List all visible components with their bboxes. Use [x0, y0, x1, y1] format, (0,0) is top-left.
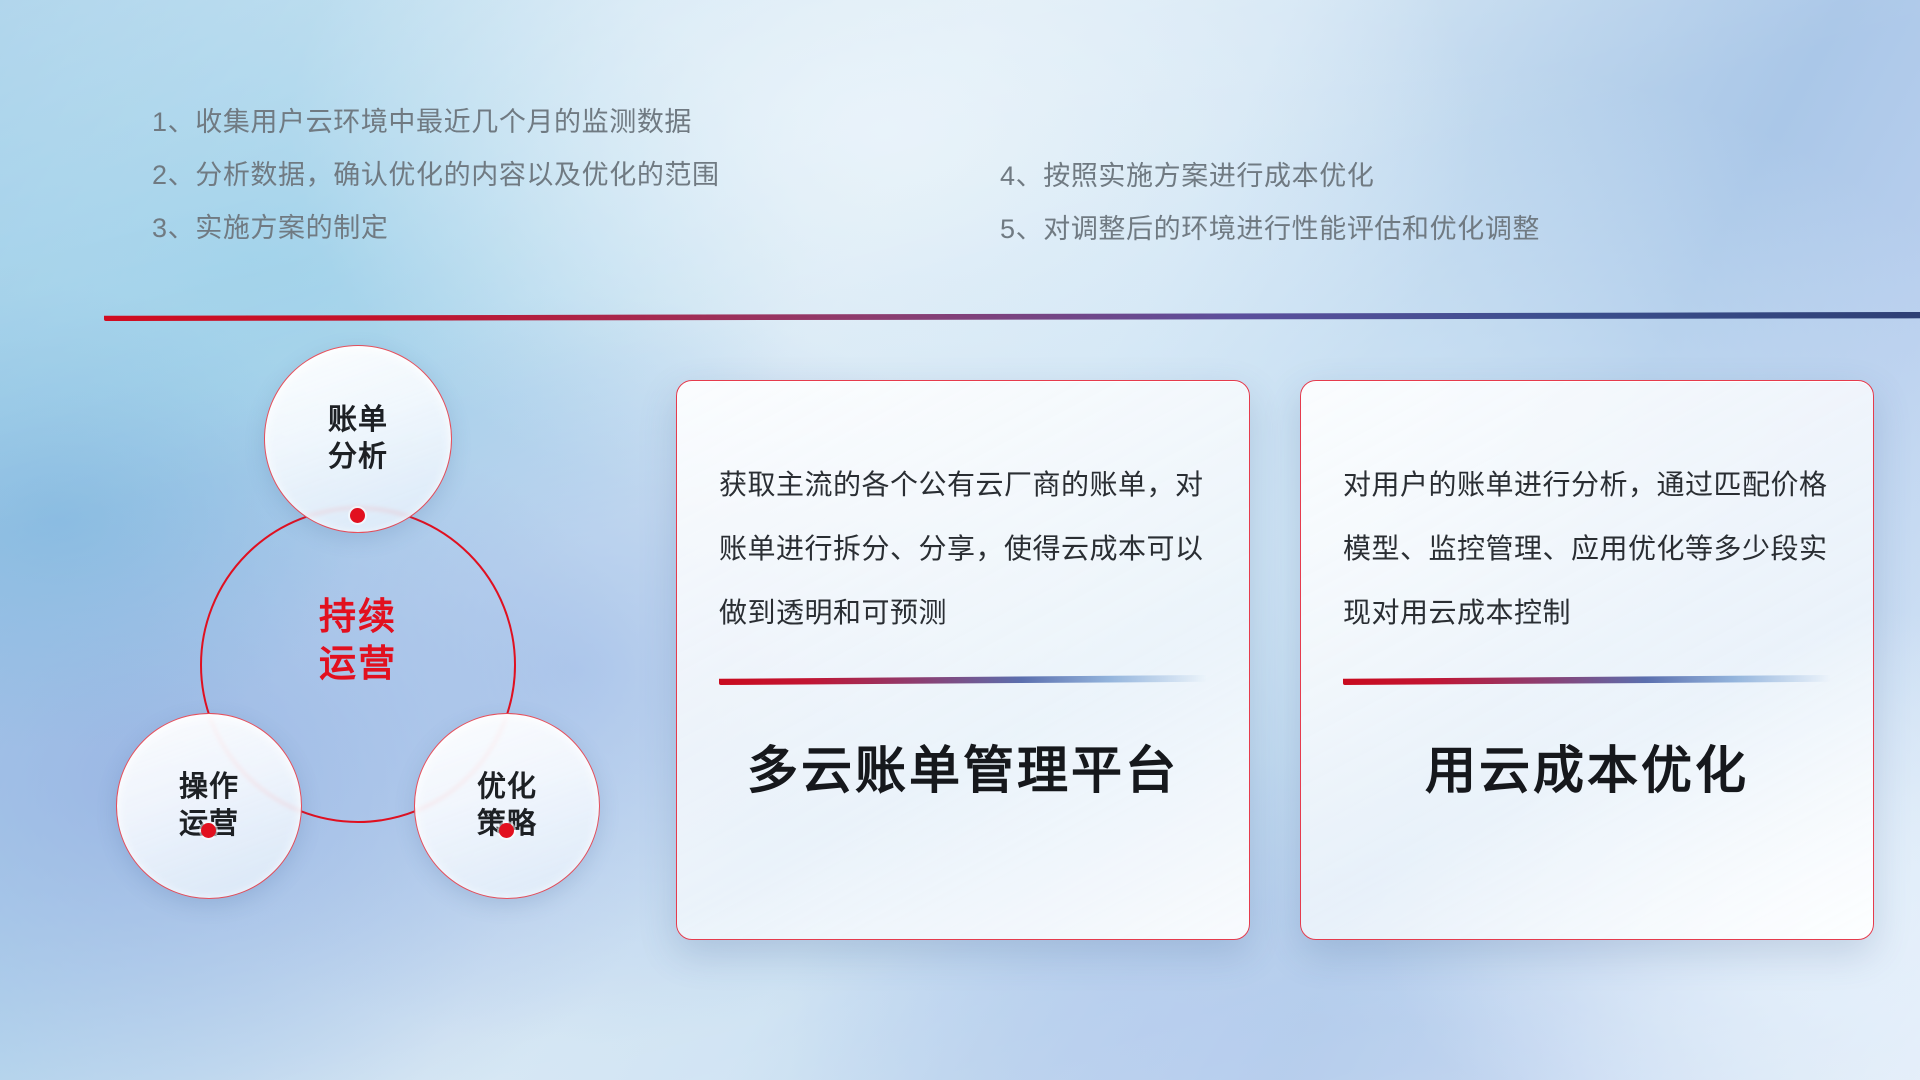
- process-step-4: 4、按照实施方案进行成本优化: [1000, 150, 1540, 203]
- node-dot-left-icon: [201, 823, 216, 838]
- bubble-optimization-policy[interactable]: 优化 策略: [414, 713, 600, 899]
- card-1-body: 获取主流的各个公有云厂商的账单，对账单进行拆分、分享，使得云成本可以做到透明和可…: [719, 453, 1207, 645]
- card-cloud-cost-optimization[interactable]: 对用户的账单进行分析，通过匹配价格模型、监控管理、应用优化等多少段实现对用云成本…: [1300, 380, 1874, 940]
- process-steps-left-column: 1、收集用户云环境中最近几个月的监测数据 2、分析数据，确认优化的内容以及优化的…: [152, 96, 720, 255]
- card-2-divider-icon: [1343, 675, 1831, 685]
- process-step-3: 3、实施方案的制定: [152, 202, 720, 255]
- bubble-bill-analysis-label: 账单 分析: [328, 402, 388, 476]
- bubble-bill-analysis[interactable]: 账单 分析: [264, 345, 452, 533]
- process-steps: 1、收集用户云环境中最近几个月的监测数据 2、分析数据，确认优化的内容以及优化的…: [0, 0, 1920, 300]
- process-steps-right-column: 4、按照实施方案进行成本优化 5、对调整后的环境进行性能评估和优化调整: [1000, 150, 1540, 256]
- section-divider: [104, 312, 1920, 321]
- feature-card-list: 获取主流的各个公有云厂商的账单，对账单进行拆分、分享，使得云成本可以做到透明和可…: [676, 380, 1874, 940]
- process-step-2: 2、分析数据，确认优化的内容以及优化的范围: [152, 149, 720, 202]
- diagram-center-label: 持续 运营: [200, 593, 516, 687]
- card-1-divider-icon: [719, 675, 1207, 685]
- process-step-1: 1、收集用户云环境中最近几个月的监测数据: [152, 96, 720, 149]
- node-dot-top-icon: [350, 508, 365, 523]
- bubble-operation-running[interactable]: 操作 运营: [116, 713, 302, 899]
- divider-rule-gradient: [104, 312, 1920, 321]
- node-dot-right-icon: [499, 823, 514, 838]
- continuous-operation-diagram: 持续 运营 账单 分析 操作 运营 优化 策略: [96, 345, 626, 955]
- card-2-body: 对用户的账单进行分析，通过匹配价格模型、监控管理、应用优化等多少段实现对用云成本…: [1343, 453, 1831, 645]
- card-multi-cloud-billing-platform[interactable]: 获取主流的各个公有云厂商的账单，对账单进行拆分、分享，使得云成本可以做到透明和可…: [676, 380, 1250, 940]
- process-step-5: 5、对调整后的环境进行性能评估和优化调整: [1000, 203, 1540, 256]
- card-1-title: 多云账单管理平台: [719, 729, 1207, 803]
- card-2-title: 用云成本优化: [1343, 729, 1831, 803]
